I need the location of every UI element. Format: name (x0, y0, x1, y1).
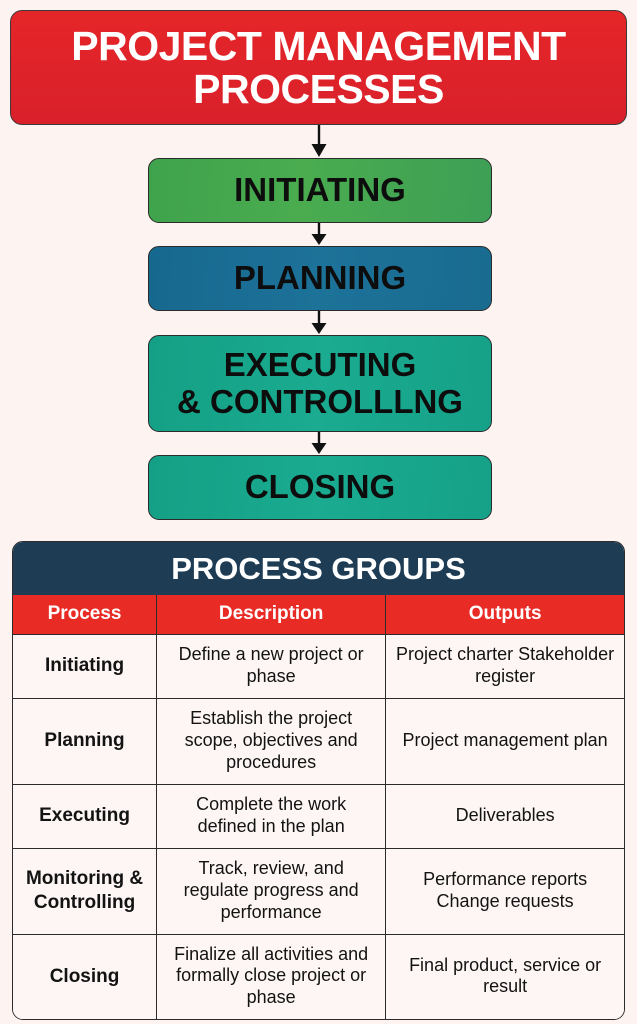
page-title: PROJECT MANAGEMENT PROCESSES (11, 25, 626, 109)
cell-process: Initiating (13, 635, 157, 699)
table-row: Initiating Define a new project or phase… (13, 635, 624, 699)
down-arrow-icon (308, 125, 330, 158)
cell-description: Track, review, and regulate progress and… (157, 848, 386, 934)
flow-step-initiating[interactable]: INITIATING (148, 158, 492, 223)
flow-step-label: PLANNING (234, 260, 406, 296)
cell-process: Closing (13, 934, 157, 1019)
cell-description: Establish the project scope, objectives … (157, 698, 386, 784)
cell-description: Complete the work defined in the plan (157, 784, 386, 848)
cell-outputs: Performance reports Change requests (386, 848, 624, 934)
down-arrow-icon (308, 223, 330, 246)
column-header-description: Description (157, 595, 386, 635)
process-groups-banner: PROCESS GROUPS (13, 542, 624, 595)
cell-process: Monitoring & Controlling (13, 848, 157, 934)
table-header-row: Process Description Outputs (13, 595, 624, 635)
flow-step-label: EXECUTING & CONTROLLLNG (177, 347, 463, 420)
flow-step-executing-controlling[interactable]: EXECUTING & CONTROLLLNG (148, 335, 492, 432)
down-arrow-icon (308, 311, 330, 335)
cell-outputs: Final product, service or result (386, 934, 624, 1019)
cell-outputs: Project management plan (386, 698, 624, 784)
column-header-outputs: Outputs (386, 595, 624, 635)
cell-description: Define a new project or phase (157, 635, 386, 699)
table-row: Executing Complete the work defined in t… (13, 784, 624, 848)
table-row: Planning Establish the project scope, ob… (13, 698, 624, 784)
flow-step-label: CLOSING (245, 469, 395, 505)
process-groups-section: PROCESS GROUPS Process Description Outpu… (12, 541, 625, 1020)
cell-description: Finalize all activities and formally clo… (157, 934, 386, 1019)
table-row: Closing Finalize all activities and form… (13, 934, 624, 1019)
flow-step-label: INITIATING (234, 172, 406, 208)
flow-step-planning[interactable]: PLANNING (148, 246, 492, 311)
process-groups-title: PROCESS GROUPS (171, 551, 466, 587)
page-title-banner: PROJECT MANAGEMENT PROCESSES (10, 10, 627, 125)
cell-process: Executing (13, 784, 157, 848)
flow-step-closing[interactable]: CLOSING (148, 455, 492, 520)
table-row: Monitoring & Controlling Track, review, … (13, 848, 624, 934)
down-arrow-icon (308, 432, 330, 455)
cell-outputs: Project charter Stakeholder register (386, 635, 624, 699)
cell-process: Planning (13, 698, 157, 784)
cell-outputs: Deliverables (386, 784, 624, 848)
column-header-process: Process (13, 595, 157, 635)
process-groups-table: Process Description Outputs Initiating D… (13, 595, 624, 1019)
